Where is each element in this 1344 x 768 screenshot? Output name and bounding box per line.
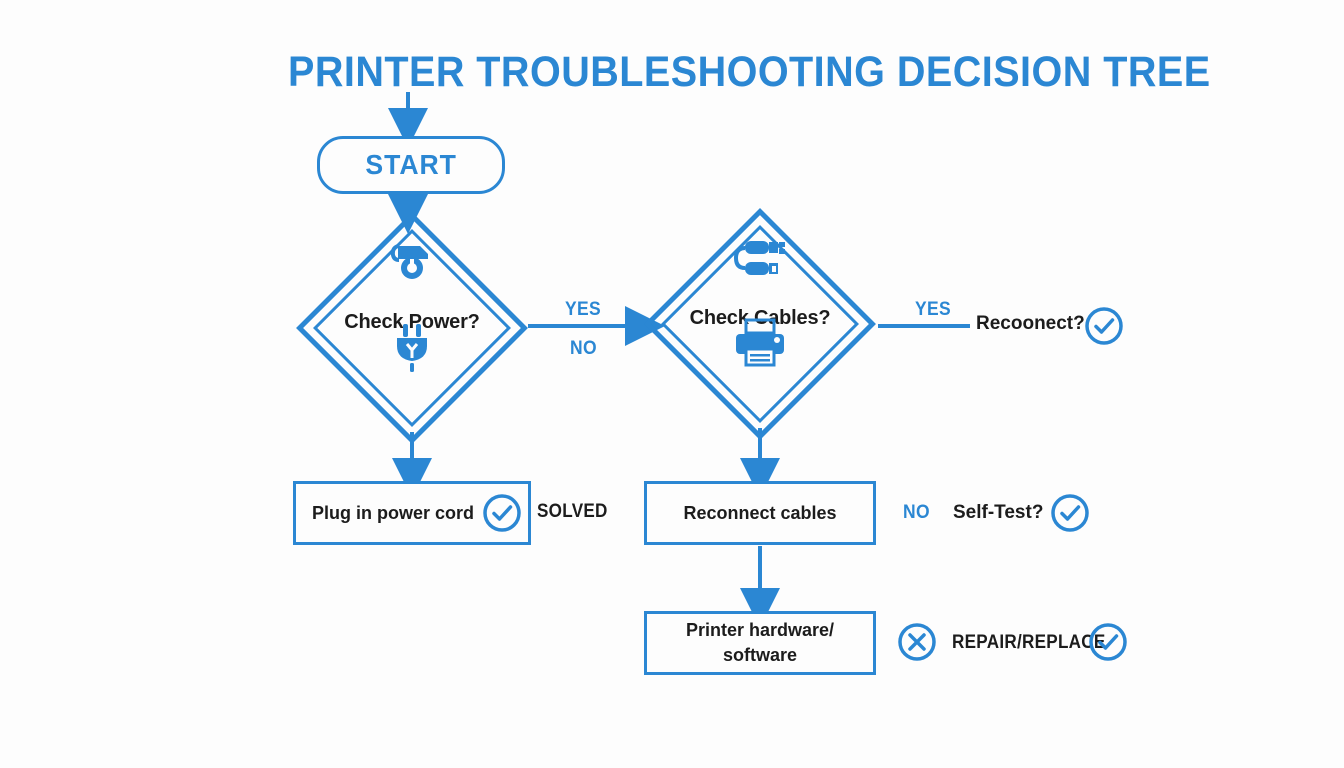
outcome-solved: SOLVED xyxy=(537,501,608,523)
check-circle-icon[interactable] xyxy=(481,492,523,534)
printer-icon xyxy=(732,318,788,368)
power-switch-icon xyxy=(388,238,436,282)
node-check-cables[interactable]: Check Cables? xyxy=(644,208,876,440)
edge-label-cables-yes: YES xyxy=(915,299,951,321)
node-start[interactable]: START xyxy=(317,136,505,194)
node-printer-hardware[interactable]: Printer hardware/ software xyxy=(644,611,876,675)
node-start-label: START xyxy=(365,149,456,181)
node-printer-hardware-label: Printer hardware/ software xyxy=(686,618,834,668)
edge-label-power-yes: YES xyxy=(565,299,601,321)
node-check-power[interactable]: Check Power? xyxy=(296,212,528,444)
edge-label-power-no: NO xyxy=(570,338,597,360)
node-printer-hardware-line2: software xyxy=(723,645,797,665)
power-plug-icon xyxy=(390,322,434,374)
flowchart-canvas: PRINTER TROUBLESHOOTING DECISION TREE ST… xyxy=(0,0,1344,768)
check-circle-icon[interactable] xyxy=(1087,621,1129,663)
check-circle-icon[interactable] xyxy=(1049,492,1091,534)
x-circle-icon[interactable] xyxy=(896,621,938,663)
check-circle-icon[interactable] xyxy=(1083,305,1125,347)
node-printer-hardware-line1: Printer hardware/ xyxy=(686,620,834,640)
edge-label-selftest-no: NO xyxy=(903,502,930,524)
node-reconnect-cables-label: Reconnect cables xyxy=(683,501,836,526)
page-title: PRINTER TROUBLESHOOTING DECISION TREE xyxy=(288,44,987,100)
outcome-reconnect-question: Recoonect? xyxy=(976,313,1085,335)
usb-cables-icon xyxy=(731,234,789,282)
node-reconnect-cables[interactable]: Reconnect cables xyxy=(644,481,876,545)
outcome-repair-replace: REPAIR/REPLACE xyxy=(952,632,1106,654)
node-plug-power-cord-label: Plug in power cord xyxy=(312,501,474,526)
outcome-self-test-question: Self-Test? xyxy=(953,502,1043,524)
